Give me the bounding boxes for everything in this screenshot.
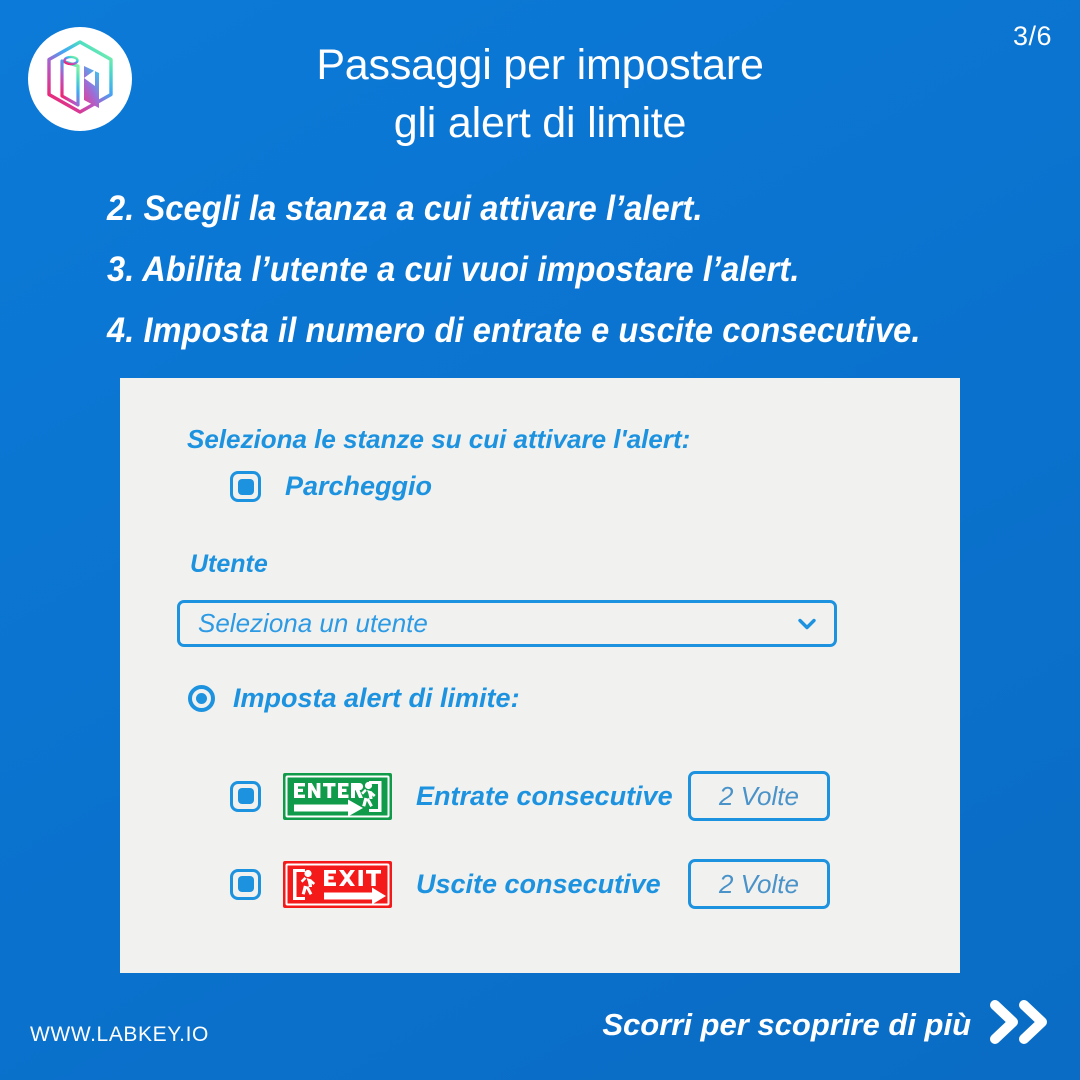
counter-value-entrate-text: 2 Volte bbox=[719, 781, 799, 812]
user-field-label: Utente bbox=[190, 550, 268, 579]
checkbox-checked-icon[interactable] bbox=[230, 869, 261, 900]
counter-row-entrate: Entrate consecutive 2 Volte bbox=[230, 771, 830, 821]
page-title-line-1: Passaggi per impostare bbox=[0, 36, 1080, 94]
counter-value-uscite[interactable]: 2 Volte bbox=[688, 859, 830, 909]
page-title-line-2: gli alert di limite bbox=[0, 94, 1080, 152]
checkbox-checked-icon[interactable] bbox=[230, 781, 261, 812]
footer-cta[interactable]: Scorri per scoprire di più bbox=[602, 999, 1054, 1050]
step-item-2: 2. Scegli la stanza a cui attivare l’ale… bbox=[107, 178, 963, 239]
slide-root: 3/6 Passaggi per impostare gli alert di … bbox=[0, 0, 1080, 1080]
counter-row-uscite: Uscite consecutive 2 Volte bbox=[230, 859, 830, 909]
limit-alert-option[interactable]: Imposta alert di limite: bbox=[188, 683, 520, 714]
counter-value-uscite-text: 2 Volte bbox=[719, 869, 799, 900]
enter-sign-icon bbox=[283, 773, 392, 820]
radio-selected-icon[interactable] bbox=[188, 685, 215, 712]
room-option-label: Parcheggio bbox=[285, 471, 432, 502]
user-select-value: Seleziona un utente bbox=[198, 608, 796, 639]
counter-label-entrate: Entrate consecutive bbox=[416, 781, 688, 812]
limit-alert-label: Imposta alert di limite: bbox=[233, 683, 520, 714]
footer-cta-label: Scorri per scoprire di più bbox=[602, 1007, 971, 1043]
checkbox-checked-icon[interactable] bbox=[230, 471, 261, 502]
exit-sign-icon bbox=[283, 861, 392, 908]
rooms-section-label: Seleziona le stanze su cui attivare l'al… bbox=[187, 424, 690, 455]
footer-website-url[interactable]: WWW.LABKEY.IO bbox=[30, 1023, 209, 1047]
step-item-3: 3. Abilita l’utente a cui vuoi impostare… bbox=[107, 239, 963, 300]
app-screenshot-panel: Seleziona le stanze su cui attivare l'al… bbox=[120, 378, 960, 973]
double-chevron-right-icon[interactable] bbox=[988, 999, 1054, 1050]
page-title: Passaggi per impostare gli alert di limi… bbox=[0, 36, 1080, 153]
chevron-down-icon[interactable] bbox=[796, 613, 818, 635]
user-select[interactable]: Seleziona un utente bbox=[177, 600, 837, 647]
counter-value-entrate[interactable]: 2 Volte bbox=[688, 771, 830, 821]
room-option-parcheggio[interactable]: Parcheggio bbox=[230, 471, 432, 502]
steps-list: 2. Scegli la stanza a cui attivare l’ale… bbox=[107, 178, 1027, 361]
step-item-4: 4. Imposta il numero di entrate e uscite… bbox=[107, 300, 963, 361]
counter-label-uscite: Uscite consecutive bbox=[416, 869, 688, 900]
